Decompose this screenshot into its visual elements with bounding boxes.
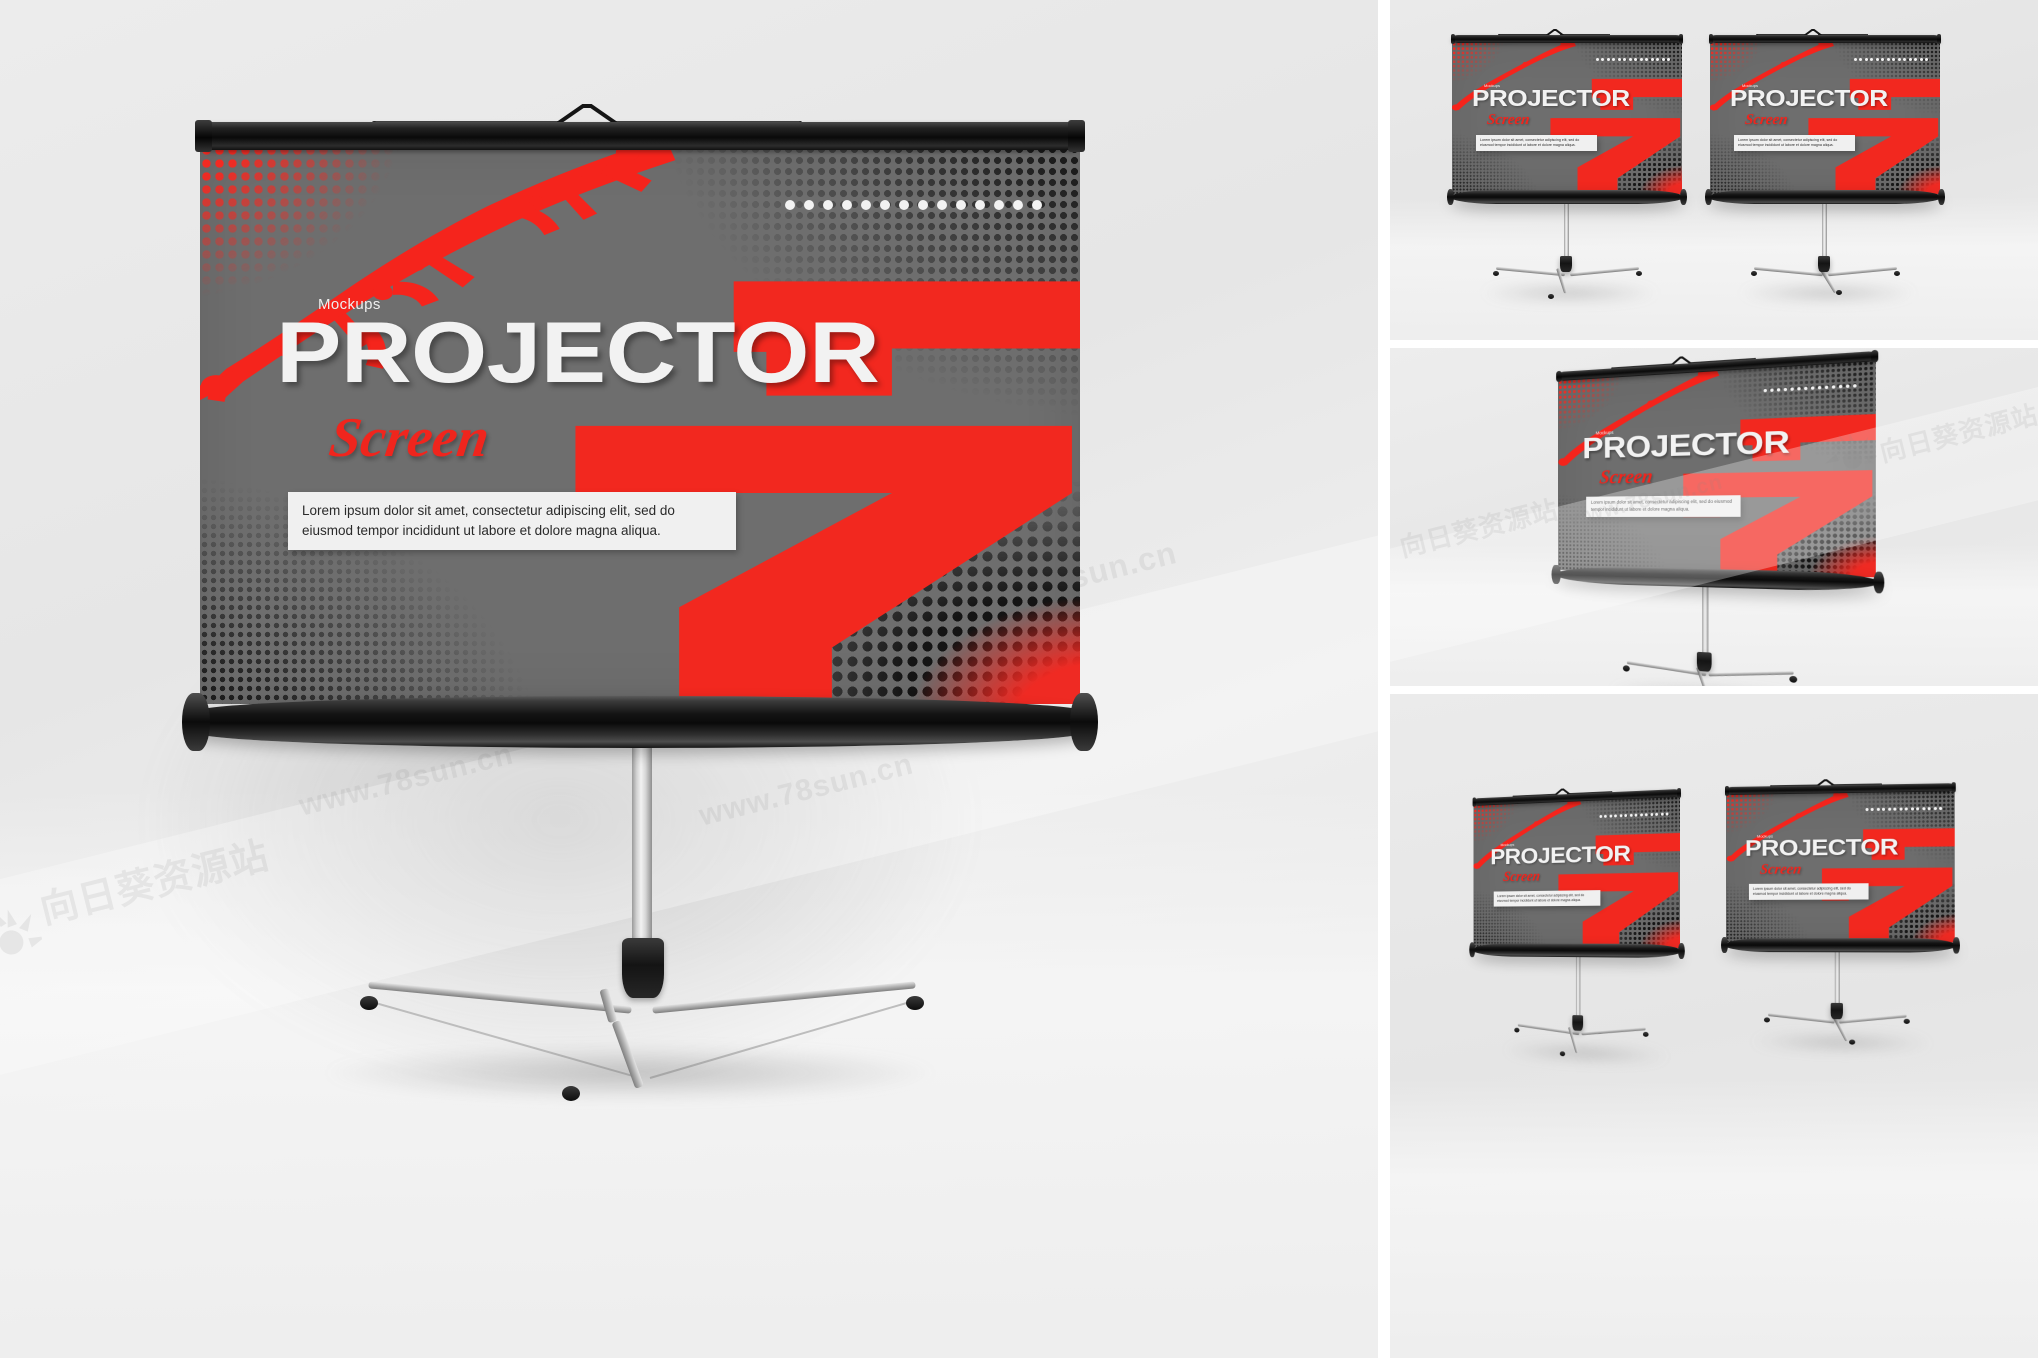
white-dot (1933, 807, 1936, 810)
white-dot (1818, 386, 1821, 390)
white-dot (1656, 58, 1659, 61)
design-subtitle: Screen (1598, 466, 1654, 490)
design-body-text: Lorem ipsum dolor sit amet, consectetur … (1753, 886, 1865, 897)
white-dot (1846, 384, 1850, 388)
white-dot (1888, 808, 1891, 811)
tripod-tip-right (906, 996, 924, 1010)
white-dot (1629, 58, 1632, 61)
white-dot (1655, 813, 1658, 816)
panel-thumbnail-two-screens-front[interactable]: Mockups PROJECTOR Screen Lorem ipsum dol… (1390, 0, 2038, 340)
panel-thumbnail-single-screen-angled[interactable]: Mockups PROJECTOR Screen Lorem ipsum dol… (1390, 348, 2038, 686)
white-dot (1871, 808, 1874, 811)
white-dot (1612, 58, 1615, 61)
white-dot (1914, 58, 1917, 61)
white-dot (1922, 807, 1925, 810)
white-dot (1876, 808, 1879, 811)
white-dot (1609, 815, 1612, 818)
white-dot-row (1854, 58, 1929, 61)
white-dot (861, 200, 871, 210)
panel-thumbnail-two-screens-angled[interactable]: Mockups PROJECTOR Screen Lorem ipsum dol… (1390, 694, 2038, 1358)
white-dot (1032, 200, 1042, 210)
white-dot (1777, 388, 1780, 391)
projector-screen-rig[interactable]: Mockups PROJECTOR Screen Lorem ipsum dol… (1473, 782, 1680, 1082)
white-dot (1640, 58, 1643, 61)
white-dot (1804, 387, 1807, 391)
design-title: PROJECTOR (276, 316, 879, 392)
design-title: PROJECTOR (1582, 430, 1789, 463)
white-dot (1887, 58, 1890, 61)
white-dot (956, 200, 966, 210)
white-dot (918, 200, 928, 210)
white-dot (1928, 807, 1931, 810)
tripod-hub (622, 938, 664, 998)
white-dot (1881, 58, 1884, 61)
white-dot (1662, 58, 1665, 61)
design-subtitle: Screen (1486, 112, 1531, 129)
design-subtitle: Screen (1744, 112, 1789, 129)
white-dot (1876, 58, 1879, 61)
white-dot (1607, 58, 1610, 61)
design-body-text: Lorem ipsum dolor sit amet, consectetur … (302, 501, 722, 540)
white-dot (1903, 58, 1906, 61)
screen-fabric[interactable]: Mockups PROJECTOR Screen Lorem ipsum dol… (200, 144, 1080, 704)
white-dot (1623, 58, 1626, 61)
white-dot (1660, 813, 1663, 816)
white-dot (1870, 58, 1873, 61)
design-subtitle: Screen (1502, 869, 1541, 886)
white-dot (1640, 813, 1643, 816)
white-dot (1624, 814, 1627, 817)
white-dot (1859, 58, 1862, 61)
white-dot (1909, 58, 1912, 61)
design-subtitle: Screen (326, 406, 494, 470)
white-dot (1865, 58, 1868, 61)
white-dot (1939, 807, 1942, 810)
white-dot (1892, 58, 1895, 61)
design-body-box: Lorem ipsum dolor sit amet, consectetur … (288, 492, 736, 550)
white-dot (1832, 385, 1836, 389)
white-dot (842, 200, 852, 210)
white-dot (1614, 814, 1617, 817)
white-dot (1899, 808, 1902, 811)
design-title: PROJECTOR (1730, 88, 1888, 108)
white-dot (975, 200, 985, 210)
white-dot (1825, 386, 1828, 390)
design-subtitle: Screen (1759, 861, 1803, 878)
white-dot (1882, 808, 1885, 811)
white-dot (1797, 387, 1800, 391)
white-dot (1651, 58, 1654, 61)
white-dot-row (1596, 58, 1671, 61)
white-dot (1629, 814, 1632, 817)
white-dot (1013, 200, 1023, 210)
white-dot (1853, 384, 1857, 388)
white-dot (1634, 58, 1637, 61)
mockup-showcase: Mockups PROJECTOR Screen Lorem ipsum dol… (0, 0, 2038, 1358)
white-dot (1920, 58, 1923, 61)
white-dot (1601, 58, 1604, 61)
design-body-text: Lorem ipsum dolor sit amet, consectetur … (1591, 499, 1735, 514)
white-dot (1650, 813, 1653, 816)
white-dot (1898, 58, 1901, 61)
white-dot (823, 200, 833, 210)
white-dot (880, 200, 890, 210)
white-dot (804, 200, 814, 210)
white-dot-row (785, 200, 1042, 210)
design-body-text: Lorem ipsum dolor sit amet, consectetur … (1738, 138, 1851, 149)
white-dot (1784, 388, 1787, 391)
white-dot (1599, 815, 1602, 818)
white-dot (1645, 813, 1648, 816)
projector-screen-rig[interactable]: Mockups PROJECTOR Screen Lorem ipsum dol… (1452, 28, 1682, 318)
white-dot (1916, 807, 1919, 810)
projector-screen-rig[interactable]: Mockups PROJECTOR Screen Lorem ipsum dol… (1726, 776, 1955, 1084)
design-title: PROJECTOR (1472, 88, 1630, 108)
screen-top-bar (200, 122, 1080, 150)
white-dot (1770, 388, 1773, 391)
design-title: PROJECTOR (1490, 843, 1630, 866)
white-dot (1910, 807, 1913, 810)
white-dot (1666, 812, 1669, 815)
design-body-text: Lorem ipsum dolor sit amet, consectetur … (1480, 138, 1593, 149)
watermark-brand-cn: 向日葵资源站 (1876, 394, 2038, 469)
white-dot (937, 200, 947, 210)
white-dot (1619, 814, 1622, 817)
design-body-text: Lorem ipsum dolor sit amet, consectetur … (1497, 893, 1597, 904)
watermark-brand-cn: 向日葵资源站 (1396, 489, 1562, 564)
white-dot (1790, 387, 1793, 390)
sunflower-logo-icon (0, 893, 47, 978)
white-dot (785, 200, 795, 210)
tripod-tip-front (562, 1086, 580, 1101)
white-dot (1635, 814, 1638, 817)
projector-screen-rig[interactable]: Mockups PROJECTOR Screen Lorem ipsum dol… (200, 100, 1080, 1300)
projector-screen-rig[interactable]: Mockups PROJECTOR Screen Lorem ipsum dol… (1710, 28, 1940, 318)
panel-main-hero[interactable]: Mockups PROJECTOR Screen Lorem ipsum dol… (0, 0, 1378, 1358)
tripod-pole (632, 740, 652, 970)
white-dot (1839, 385, 1843, 389)
white-dot (1604, 815, 1607, 818)
projector-screen-rig[interactable]: Mockups PROJECTOR Screen Lorem ipsum dol… (1558, 348, 1876, 686)
white-dot (1618, 58, 1621, 61)
white-dot (994, 200, 1004, 210)
white-dot (1764, 389, 1767, 392)
white-dot (1645, 58, 1648, 61)
white-dot (1893, 808, 1896, 811)
white-dot (1925, 58, 1928, 61)
screen-bottom-roller (194, 696, 1086, 748)
design-title: PROJECTOR (1745, 837, 1898, 858)
white-dot (1667, 58, 1670, 61)
white-dot (899, 200, 909, 210)
white-dot (1811, 386, 1814, 390)
white-dot (1905, 807, 1908, 810)
white-dot (1596, 58, 1599, 61)
tripod-tip-left (360, 996, 378, 1010)
white-dot (1854, 58, 1857, 61)
white-dot (1865, 808, 1868, 811)
